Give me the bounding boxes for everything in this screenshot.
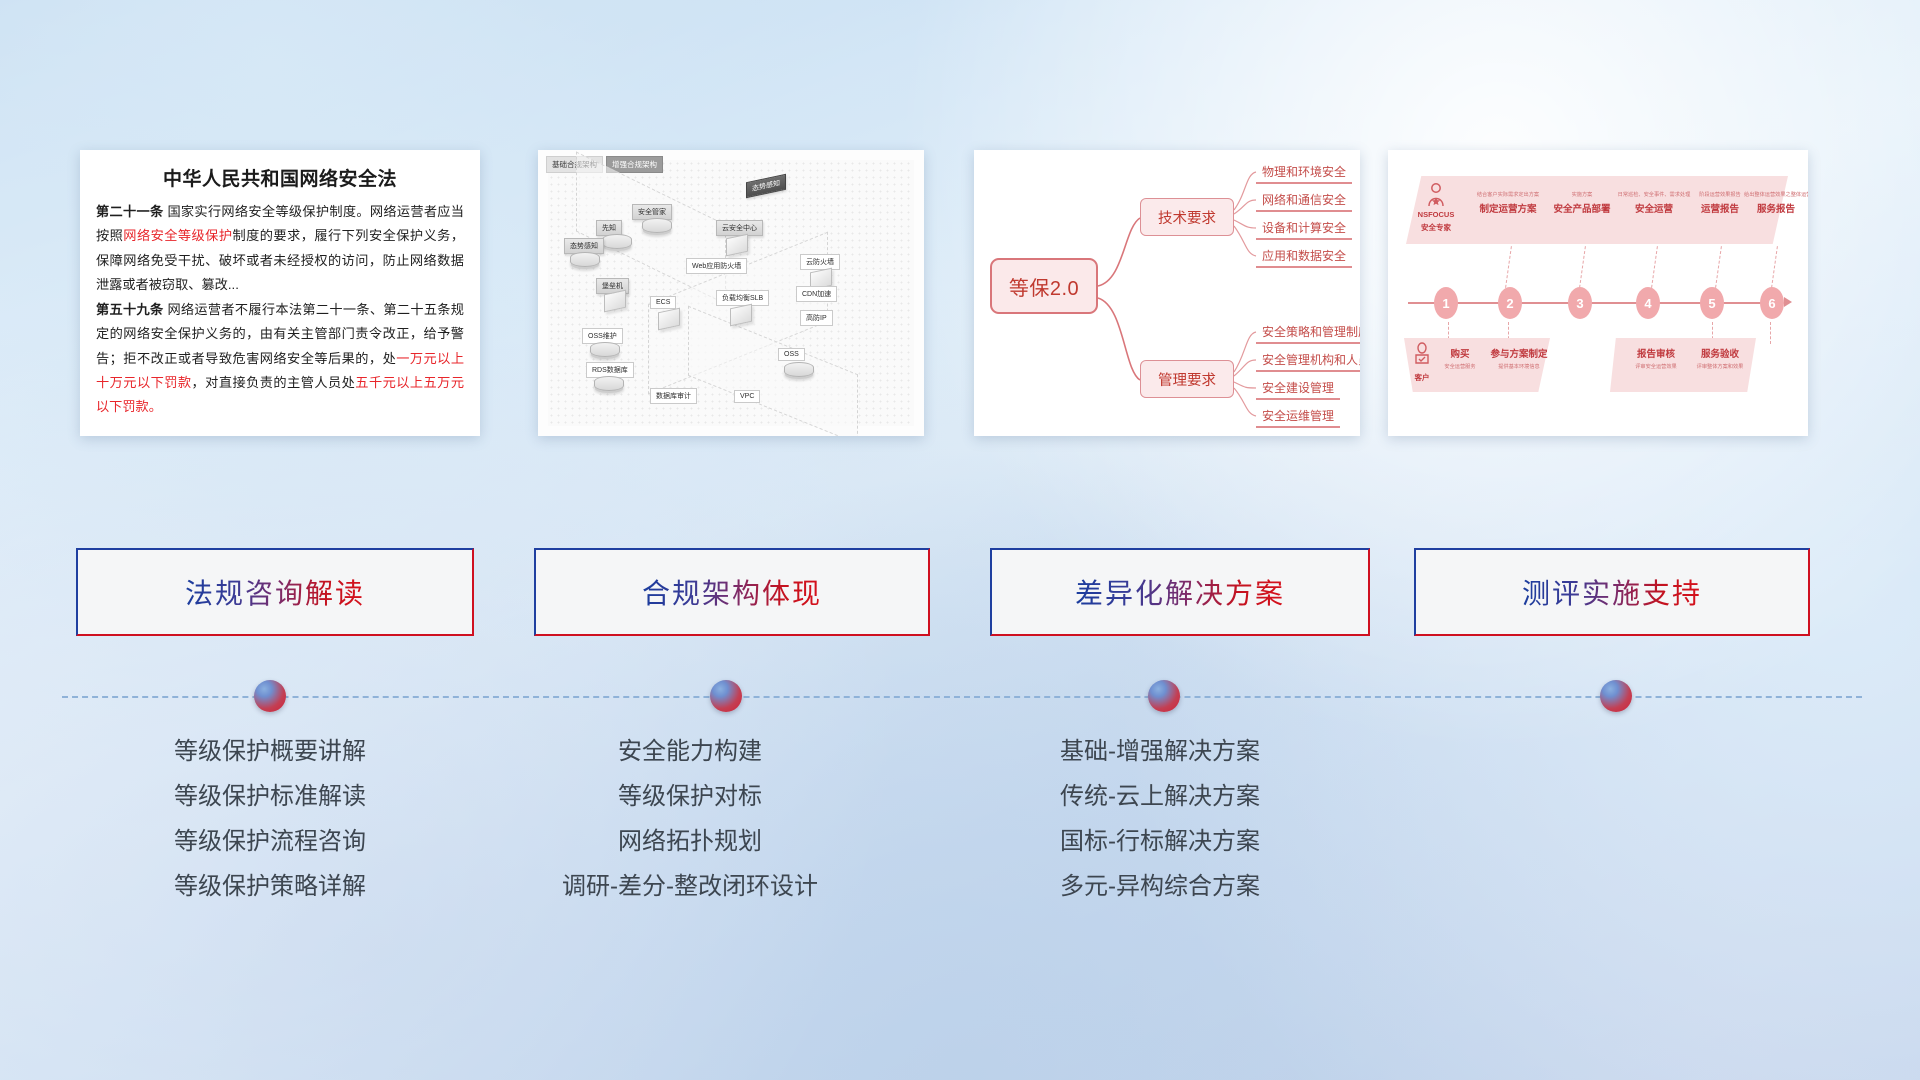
section-heading-assessment-support[interactable]: 测评实施支持 bbox=[1414, 548, 1810, 636]
timeline-connector-6 bbox=[1771, 246, 1778, 288]
mindmap-leaf-construction-mgmt: 安全建设管理 bbox=[1256, 378, 1340, 400]
architecture-cylinder-rds bbox=[594, 376, 624, 391]
architecture-node-db-audit: 数据库审计 bbox=[650, 388, 697, 404]
section-heading-2-label: 合规架构体现 bbox=[642, 572, 822, 612]
architecture-cylinder-1 bbox=[642, 218, 672, 233]
mindmap-canvas: 等保2.0 技术要求 管理要求 物理和环境安全 网络和通信安全 设备和计算安全 … bbox=[974, 150, 1360, 436]
mindmap-branch-technical[interactable]: 技术要求 bbox=[1140, 198, 1234, 236]
architecture-canvas-wrap: 基础合规架构 增强合规架构 态势感知 安全管家 先知 态势感知 堡垒机 云安全中… bbox=[538, 150, 924, 436]
mindmap-branch-management[interactable]: 管理要求 bbox=[1140, 360, 1234, 398]
timeline-dot-5: 5 bbox=[1700, 287, 1724, 319]
list-item: 网络拓扑规划 bbox=[480, 830, 900, 854]
customer-action-2-sub: 提供基本环境信息 bbox=[1484, 364, 1554, 370]
timeline-connector-2 bbox=[1505, 246, 1512, 288]
list-item: 调研-差分-整改闭环设计 bbox=[480, 875, 900, 899]
section-heading-differentiated-solution[interactable]: 差异化解决方案 bbox=[990, 548, 1370, 636]
card-architecture-diagram[interactable]: 基础合规架构 增强合规架构 态势感知 安全管家 先知 态势感知 堡垒机 云安全中… bbox=[538, 150, 924, 436]
customer-role-label: 客户 bbox=[1408, 372, 1436, 383]
law-article-59-label: 第五十九条 bbox=[96, 302, 163, 317]
customer-action-1-sub: 安全运营服务 bbox=[1438, 364, 1482, 370]
customer-action-4-sub: 评审整体方案和效果 bbox=[1688, 364, 1752, 370]
timeline-step-3: 实施方案 安全产品部署 bbox=[1546, 192, 1618, 215]
timeline-dot-6: 6 bbox=[1760, 287, 1784, 319]
timeline-connector-5 bbox=[1715, 246, 1722, 288]
customer-action-4: 服务验收 评审整体方案和效果 bbox=[1688, 346, 1752, 370]
mindmap-leaf-ops-mgmt: 安全运维管理 bbox=[1256, 406, 1340, 428]
law-article-21-highlight: 网络安全等级保护 bbox=[123, 228, 232, 243]
list-item: 传统-云上解决方案 bbox=[950, 785, 1370, 809]
list-item: 多元-异构综合方案 bbox=[950, 875, 1370, 899]
expert-role-line2: 安全专家 bbox=[1410, 222, 1462, 233]
page-root: 中华人民共和国网络安全法 第二十一条 国家实行网络安全等级保护制度。网络运营者应… bbox=[0, 0, 1920, 1080]
architecture-node-cloud-firewall: 云防火墙 bbox=[800, 254, 840, 270]
section-items-3: 基础-增强解决方案 传统-云上解决方案 国标-行标解决方案 多元-异构综合方案 bbox=[950, 740, 1370, 920]
section-items-1: 等级保护概要讲解 等级保护标准解读 等级保护流程咨询 等级保护策略详解 bbox=[60, 740, 480, 920]
mindmap-leaf-network-comm: 网络和通信安全 bbox=[1256, 190, 1352, 212]
timeline-connector-3 bbox=[1579, 246, 1586, 288]
timeline-step-5: 阶段运营效果报告 运营报告 bbox=[1688, 192, 1752, 215]
architecture-node-oss: OSS bbox=[778, 348, 805, 361]
list-item: 等级保护对标 bbox=[480, 785, 900, 809]
customer-action-4-main: 服务验收 bbox=[1688, 346, 1752, 360]
architecture-node-waf: Web应用防火墙 bbox=[686, 258, 747, 274]
customer-action-2-main: 参与方案制定 bbox=[1484, 346, 1554, 360]
timeline-step-2-main: 制定运营方案 bbox=[1470, 201, 1546, 215]
timeline-axis bbox=[1408, 302, 1786, 304]
timeline-step-3-main: 安全产品部署 bbox=[1546, 201, 1618, 215]
law-article-59-text-b: ，对直接负责的主管人员处 bbox=[192, 375, 356, 390]
card-service-timeline[interactable]: NSFOCUS 安全专家 结合客户实际需求定出方案 制定运营方案 实施方案 安全… bbox=[1388, 150, 1808, 436]
law-article-21: 第二十一条 国家实行网络安全等级保护制度。网络运营者应当按照网络安全等级保护制度… bbox=[96, 200, 464, 298]
section-heading-3-label: 差异化解决方案 bbox=[1075, 572, 1285, 612]
timeline-step-2-sub: 结合客户实际需求定出方案 bbox=[1470, 192, 1546, 198]
timeline-dot-2: 2 bbox=[1498, 287, 1522, 319]
list-item: 安全能力构建 bbox=[480, 740, 900, 764]
timeline-dot-3: 3 bbox=[1568, 287, 1592, 319]
architecture-cylinder-oss-maintain bbox=[590, 342, 620, 357]
customer-person-icon bbox=[1412, 342, 1432, 368]
timeline-step-4-sub: 日常巡检、安全事件、需求处理 bbox=[1616, 192, 1692, 198]
section-heading-compliance-architecture[interactable]: 合规架构体现 bbox=[534, 548, 930, 636]
section-heading-4-label: 测评实施支持 bbox=[1522, 572, 1702, 612]
architecture-node-anti-ddos: 高防IP bbox=[800, 310, 833, 326]
list-item: 等级保护策略详解 bbox=[60, 875, 480, 899]
expert-person-icon bbox=[1424, 182, 1448, 208]
customer-action-1: 购买 安全运营服务 bbox=[1438, 346, 1482, 370]
card-mindmap[interactable]: 等保2.0 技术要求 管理要求 物理和环境安全 网络和通信安全 设备和计算安全 … bbox=[974, 150, 1360, 436]
timeline-canvas: NSFOCUS 安全专家 结合客户实际需求定出方案 制定运营方案 实施方案 安全… bbox=[1388, 150, 1808, 436]
section-heading-regulation-consulting[interactable]: 法规咨询解读 bbox=[76, 548, 474, 636]
mindmap-leaf-policy-system: 安全策略和管理制度 bbox=[1256, 322, 1360, 344]
mindmap-leaf-app-data: 应用和数据安全 bbox=[1256, 246, 1352, 268]
architecture-node-vpc: VPC bbox=[734, 390, 760, 403]
timeline-dot-1: 1 bbox=[1434, 287, 1458, 319]
timeline-dot-4: 4 bbox=[1636, 287, 1660, 319]
list-item: 等级保护流程咨询 bbox=[60, 830, 480, 854]
architecture-node-ecs: ECS bbox=[650, 296, 676, 309]
timeline-dashed-axis bbox=[62, 696, 1862, 698]
axis-marker-1[interactable] bbox=[254, 680, 286, 712]
timeline-step-6: 给出整体运营效果之整体运营效果 服务报告 bbox=[1744, 192, 1808, 215]
architecture-node-cloud-security-center: 云安全中心 bbox=[716, 220, 763, 236]
mindmap-center-node[interactable]: 等保2.0 bbox=[990, 258, 1098, 314]
architecture-node-slb: 负载均衡SLB bbox=[716, 290, 769, 306]
timeline-step-4: 日常巡检、安全事件、需求处理 安全运营 bbox=[1616, 192, 1692, 215]
timeline-connector-c4 bbox=[1770, 322, 1771, 344]
timeline-step-2: 结合客户实际需求定出方案 制定运营方案 bbox=[1470, 192, 1546, 215]
architecture-node-cdn: CDN加速 bbox=[796, 286, 837, 302]
architecture-cylinder-2 bbox=[602, 234, 632, 249]
section-items-row: 等级保护概要讲解 等级保护标准解读 等级保护流程咨询 等级保护策略详解 安全能力… bbox=[0, 740, 1920, 1000]
architecture-cylinder-oss bbox=[784, 362, 814, 377]
list-item: 等级保护概要讲解 bbox=[60, 740, 480, 764]
customer-action-2: 参与方案制定 提供基本环境信息 bbox=[1484, 346, 1554, 370]
axis-marker-2[interactable] bbox=[710, 680, 742, 712]
customer-action-3-main: 报告审核 bbox=[1624, 346, 1688, 360]
customer-action-3: 报告审核 评审安全运营效果 bbox=[1624, 346, 1688, 370]
card-law-document[interactable]: 中华人民共和国网络安全法 第二十一条 国家实行网络安全等级保护制度。网络运营者应… bbox=[80, 150, 480, 436]
timeline-step-6-main: 服务报告 bbox=[1744, 201, 1808, 215]
timeline-connector-4 bbox=[1651, 246, 1658, 288]
timeline-step-4-main: 安全运营 bbox=[1616, 201, 1692, 215]
mindmap-leaf-physical-env: 物理和环境安全 bbox=[1256, 162, 1352, 184]
timeline-step-5-main: 运营报告 bbox=[1688, 201, 1752, 215]
mindmap-leaf-org-personnel: 安全管理机构和人员 bbox=[1256, 350, 1360, 372]
customer-action-1-main: 购买 bbox=[1438, 346, 1482, 360]
mindmap-leaf-device-compute: 设备和计算安全 bbox=[1256, 218, 1352, 240]
list-item: 基础-增强解决方案 bbox=[950, 740, 1370, 764]
timeline-step-6-sub: 给出整体运营效果之整体运营效果 bbox=[1744, 192, 1808, 198]
expert-role-line1: NSFOCUS bbox=[1410, 210, 1462, 219]
architecture-cylinder-3 bbox=[570, 252, 600, 267]
preview-cards-row: 中华人民共和国网络安全法 第二十一条 国家实行网络安全等级保护制度。网络运营者应… bbox=[0, 150, 1920, 440]
axis-marker-4[interactable] bbox=[1600, 680, 1632, 712]
timeline-step-5-sub: 阶段运营效果报告 bbox=[1688, 192, 1752, 198]
timeline-step-3-sub: 实施方案 bbox=[1546, 192, 1618, 198]
section-headings-row: 法规咨询解读 合规架构体现 差异化解决方案 测评实施支持 bbox=[0, 548, 1920, 643]
list-item: 等级保护标准解读 bbox=[60, 785, 480, 809]
axis-marker-3[interactable] bbox=[1148, 680, 1180, 712]
timeline-axis-arrow bbox=[1784, 297, 1792, 307]
list-item: 国标-行标解决方案 bbox=[950, 830, 1370, 854]
section-items-2: 安全能力构建 等级保护对标 网络拓扑规划 调研-差分-整改闭环设计 bbox=[480, 740, 900, 920]
law-article-59: 第五十九条 网络运营者不履行本法第二十一条、第二十五条规定的网络安全保护义务的，… bbox=[96, 298, 464, 420]
law-document-body: 中华人民共和国网络安全法 第二十一条 国家实行网络安全等级保护制度。网络运营者应… bbox=[80, 150, 480, 428]
law-title: 中华人民共和国网络安全法 bbox=[96, 164, 464, 191]
section-heading-1-label: 法规咨询解读 bbox=[185, 572, 365, 612]
law-article-21-label: 第二十一条 bbox=[96, 204, 163, 219]
customer-action-3-sub: 评审安全运营效果 bbox=[1624, 364, 1688, 370]
